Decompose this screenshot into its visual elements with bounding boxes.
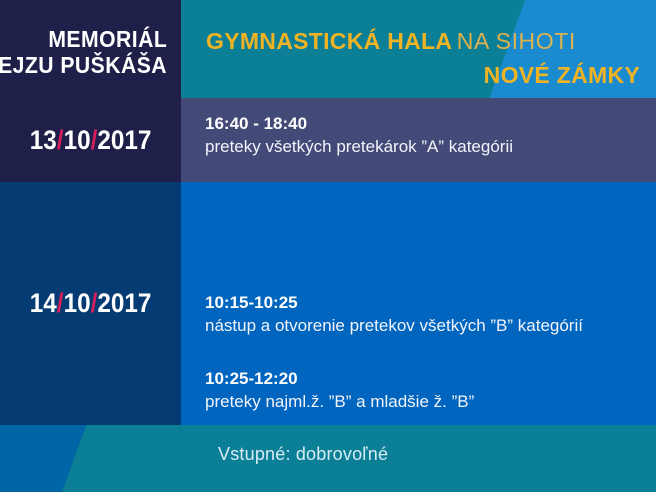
event-item: 10:25-12:20 preteky najml.ž. ”B” a mladš… — [205, 368, 474, 414]
date-cell-day1: 13/10/2017 — [0, 98, 181, 182]
event-description: nástup a otvorenie pretekov všetkých ”B”… — [205, 314, 583, 338]
schedule-table: 13/10/2017 16:40 - 18:40 preteky všetkýc… — [0, 98, 656, 425]
events-cell-day1: 16:40 - 18:40 preteky všetkých pretekáro… — [181, 98, 656, 182]
event-item: 10:15-10:25 nástup a otvorenie pretekov … — [205, 292, 583, 338]
schedule-row-day1: 13/10/2017 16:40 - 18:40 preteky všetkýc… — [0, 98, 656, 182]
events-cell-day2: 10:15-10:25 nástup a otvorenie pretekov … — [181, 182, 656, 425]
date-year-day2: 2017 — [97, 288, 151, 318]
date-day-day2: 14 — [30, 288, 57, 318]
date-month-day1: 10 — [63, 125, 90, 155]
date-day-day1: 13 — [30, 125, 57, 155]
memorial-title-line2: GEJZU PUŠKÁŠA — [0, 53, 167, 78]
date-separator-1: / — [57, 125, 64, 155]
venue-heading-line1: GYMNASTICKÁ HALA NA SIHOTI — [206, 26, 656, 60]
venue-district: NA SIHOTI — [457, 28, 576, 54]
poster-footer: Vstupné: dobrovoľné — [0, 425, 656, 492]
event-description: preteky všetkých pretekárok ”A” kategóri… — [205, 135, 513, 159]
event-item: 16:40 - 18:40 preteky všetkých pretekáro… — [205, 113, 513, 159]
schedule-row-day2: 14/10/2017 10:15-10:25 nástup a otvoreni… — [0, 182, 656, 425]
event-time: 10:25-12:20 — [205, 368, 474, 390]
date-cell-day2: 14/10/2017 — [0, 182, 181, 425]
event-time: 10:15-10:25 — [205, 292, 583, 314]
event-description: preteky najml.ž. ”B” a mladšie ž. ”B” — [205, 390, 474, 414]
footer-blue-diagonal — [0, 425, 90, 492]
date-year-day1: 2017 — [97, 125, 151, 155]
date-separator-3: / — [57, 288, 64, 318]
date-separator-4: / — [90, 288, 97, 318]
memorial-title-block: MEMORIÁL GEJZU PUŠKÁŠA — [0, 0, 181, 98]
venue-name: GYMNASTICKÁ HALA — [206, 28, 452, 54]
event-time: 16:40 - 18:40 — [205, 113, 513, 135]
memorial-title-line1: MEMORIÁL — [48, 27, 167, 52]
date-separator-2: / — [90, 125, 97, 155]
venue-city: NOVÉ ZÁMKY — [206, 60, 656, 90]
date-label-day2: 14/10/2017 — [30, 288, 152, 319]
date-label-day1: 13/10/2017 — [30, 125, 152, 156]
admission-note: Vstupné: dobrovoľné — [218, 444, 388, 465]
venue-heading: GYMNASTICKÁ HALA NA SIHOTI NOVÉ ZÁMKY — [206, 26, 656, 90]
poster-header: MEMORIÁL GEJZU PUŠKÁŠA GYMNASTICKÁ HALA … — [0, 0, 656, 98]
event-poster: MEMORIÁL GEJZU PUŠKÁŠA GYMNASTICKÁ HALA … — [0, 0, 656, 492]
date-month-day2: 10 — [63, 288, 90, 318]
